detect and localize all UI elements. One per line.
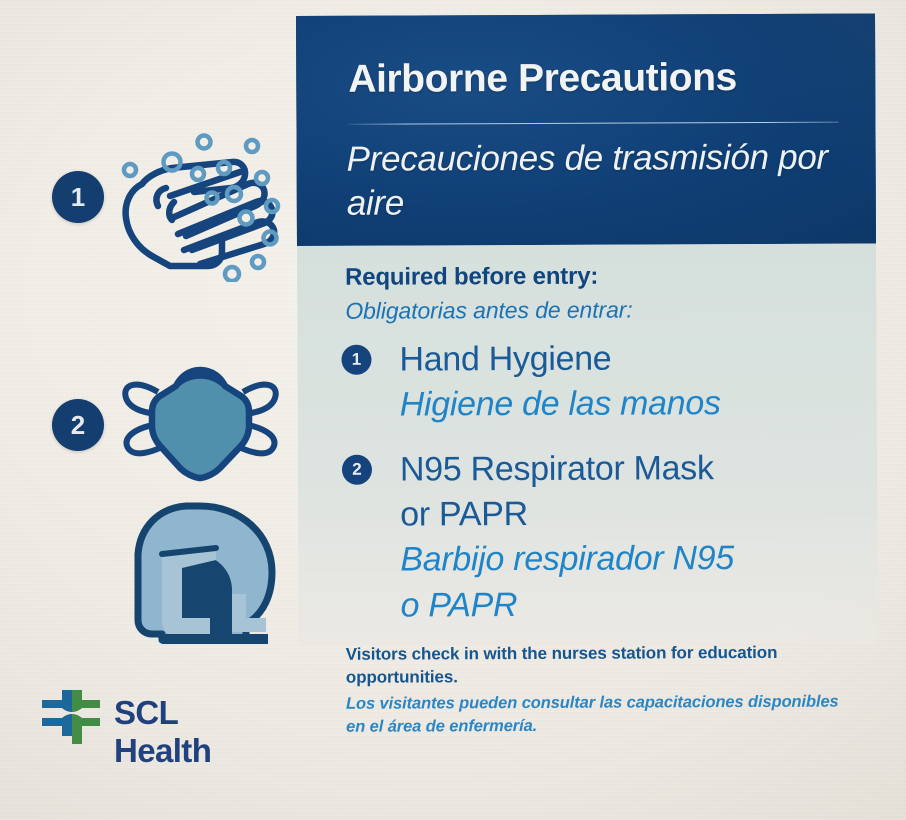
bullet-number-1: 1: [341, 345, 371, 375]
step-number-2: 2: [52, 399, 104, 451]
requirement-2-spanish: Barbijo respirador N95 o PAPR: [400, 536, 862, 630]
bullet-number-2: 2: [342, 455, 372, 485]
airborne-precautions-sign: 1 2: [0, 0, 906, 820]
requirement-1-spanish: Higiene de las manos: [400, 381, 862, 429]
logo-text: SCL Health: [114, 694, 280, 770]
step-number-1: 1: [52, 171, 104, 223]
requirement-item-1-text: Hand Hygiene Higiene de las manos: [399, 336, 861, 429]
page-subtitle-spanish: Precauciones de trasmisión por aire: [347, 136, 847, 227]
required-label-spanish: Obligatorias antes de entrar:: [345, 297, 632, 325]
requirement-item-2-text: N95 Respirator Mask or PAPR Barbijo resp…: [400, 446, 863, 630]
requirement-item-2: 2 N95 Respirator Mask or PAPR Barbijo re…: [342, 446, 863, 630]
requirement-2-english: N95 Respirator Mask or PAPR: [400, 446, 862, 538]
n95-respirator-icon: [118, 352, 283, 484]
header-divider: [348, 122, 838, 125]
scl-health-logo: SCL Health: [40, 686, 280, 748]
information-panel: Airborne Precautions Precauciones de tra…: [296, 13, 878, 646]
page-title: Airborne Precautions: [348, 56, 737, 102]
visitor-note-spanish: Los visitantes pueden consultar las capa…: [346, 691, 846, 739]
hand-washing-icon: [112, 122, 292, 282]
requirement-1-english: Hand Hygiene: [399, 336, 861, 383]
requirement-item-1: 1 Hand Hygiene Higiene de las manos: [341, 336, 861, 429]
scl-health-cross-logo: [40, 688, 102, 746]
visitor-note-english: Visitors check in with the nurses statio…: [346, 642, 846, 690]
panel-header: Airborne Precautions Precauciones de tra…: [296, 13, 876, 246]
panel-body: Required before entry: Obligatorias ante…: [297, 243, 878, 646]
papr-hood-icon: [128, 498, 278, 646]
required-label-english: Required before entry:: [345, 263, 598, 292]
